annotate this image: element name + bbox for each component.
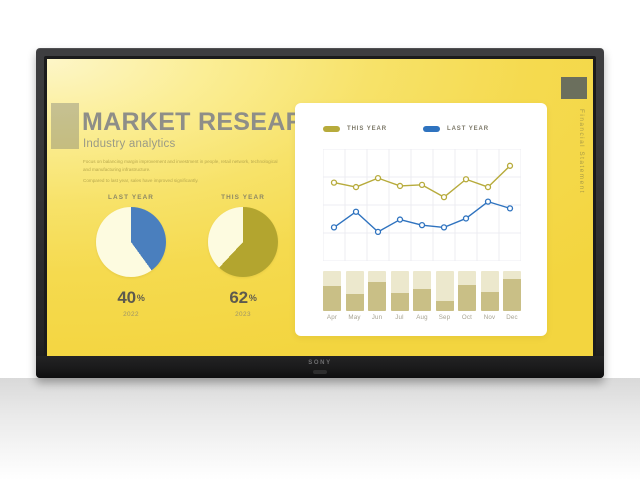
pie-block-last-year: LAST YEAR 40% 2022 — [79, 194, 183, 318]
line-chart-svg — [323, 149, 521, 261]
chart-x-axis-labels: AprMayJunJulAugSepOctNovDec — [323, 314, 521, 321]
legend-swatch-icon-last-year — [423, 126, 440, 132]
bar-fill — [391, 293, 409, 311]
x-axis-label: Nov — [481, 314, 499, 321]
pie-percent-this-year: 62% — [191, 289, 295, 306]
percent-symbol-last-year: % — [137, 293, 145, 303]
bar-item — [503, 271, 521, 311]
display-screen: MARKET RESEARCH Industry analytics Focus… — [47, 59, 593, 358]
pie-percent-last-year: 40% — [79, 289, 183, 306]
pie-chart-this-year — [208, 207, 278, 277]
presentation-slide: MARKET RESEARCH Industry analytics Focus… — [47, 59, 593, 358]
slide-paragraph-1: Focus on balancing margin improvement an… — [83, 158, 279, 174]
screenshot-root: MARKET RESEARCH Industry analytics Focus… — [0, 0, 640, 480]
pie-chart-last-year — [96, 207, 166, 277]
x-axis-label: May — [346, 314, 364, 321]
chart-card: THIS YEAR LAST YEAR AprMayJunJulAugSepOc… — [295, 103, 547, 336]
line-chart-plot — [323, 149, 521, 261]
legend-item-this-year: THIS YEAR — [323, 126, 387, 132]
bar-fill — [346, 294, 364, 311]
bar-item — [346, 271, 364, 311]
x-axis-label: Jul — [391, 314, 409, 321]
bar-item — [458, 271, 476, 311]
sony-brand-logo: SONY — [308, 360, 331, 366]
pie-chart-group: LAST YEAR 40% 2022 THIS YEAR 62% 2023 — [73, 194, 303, 349]
slide-subtitle: Industry analytics — [83, 138, 175, 150]
bar-item — [368, 271, 386, 311]
bar-fill — [436, 301, 454, 311]
pie-year-this-year: 2023 — [191, 311, 295, 318]
legend-item-last-year: LAST YEAR — [423, 126, 489, 132]
legend-label-this-year: THIS YEAR — [347, 126, 387, 132]
legend-label-last-year: LAST YEAR — [447, 126, 489, 132]
pie-year-last-year: 2022 — [79, 311, 183, 318]
bar-fill — [503, 279, 521, 311]
x-axis-label: Apr — [323, 314, 341, 321]
vertical-side-label: Financial Statement — [578, 109, 585, 289]
pie-percent-value-last-year: 40 — [117, 288, 136, 307]
x-axis-label: Sep — [436, 314, 454, 321]
decorative-block-right — [561, 77, 587, 99]
pie-block-this-year: THIS YEAR 62% 2023 — [191, 194, 295, 318]
x-axis-label: Aug — [413, 314, 431, 321]
x-axis-label: Dec — [503, 314, 521, 321]
sony-display-device: MARKET RESEARCH Industry analytics Focus… — [36, 48, 604, 378]
x-axis-label: Oct — [458, 314, 476, 321]
bar-fill — [323, 286, 341, 311]
bar-item — [436, 271, 454, 311]
percent-symbol-this-year: % — [249, 293, 257, 303]
bar-item — [323, 271, 341, 311]
decorative-block-left — [51, 103, 79, 149]
bar-fill — [413, 289, 431, 311]
x-axis-label: Jun — [368, 314, 386, 321]
bar-fill — [368, 282, 386, 311]
background-surface — [0, 378, 640, 480]
bar-fill — [481, 292, 499, 311]
bar-item — [481, 271, 499, 311]
pie-caption-last-year: LAST YEAR — [79, 194, 183, 201]
slide-paragraph-2: Compared to last year, sales have improv… — [83, 177, 279, 185]
display-bottom-bezel: SONY — [36, 356, 604, 378]
pie-caption-this-year: THIS YEAR — [191, 194, 295, 201]
bar-item — [413, 271, 431, 311]
pie-percent-value-this-year: 62 — [229, 288, 248, 307]
chart-legend: THIS YEAR LAST YEAR — [323, 126, 489, 132]
ir-sensor-icon — [313, 370, 327, 374]
bar-item — [391, 271, 409, 311]
bar-fill — [458, 285, 476, 311]
legend-swatch-icon-this-year — [323, 126, 340, 132]
bar-chart-row — [323, 269, 521, 311]
